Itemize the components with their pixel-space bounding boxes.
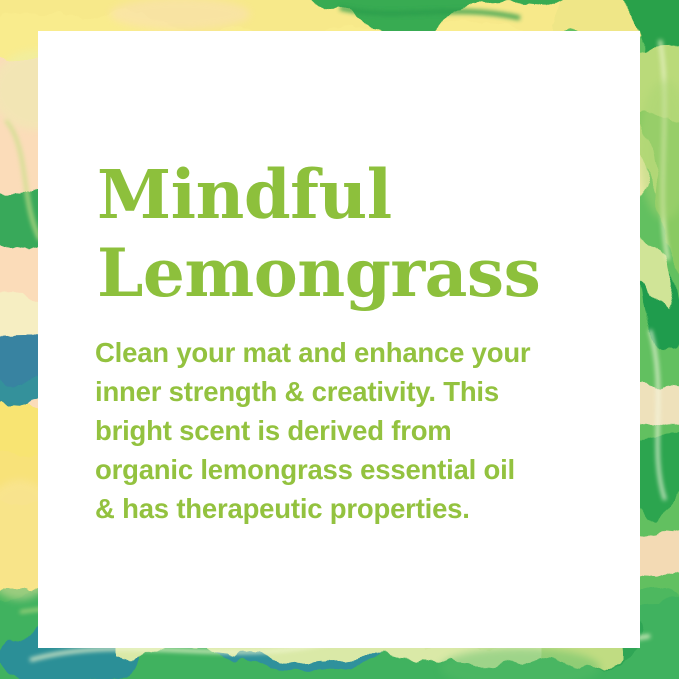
description-line-2: inner strength & creativity. This [95,372,615,411]
white-content-card: Mindful Lemongrass Clean your mat and en… [38,31,640,648]
product-title-line-2: Lemongrass [97,234,617,312]
product-description-image: Mindful Lemongrass Clean your mat and en… [0,0,679,679]
product-title: Mindful Lemongrass [97,156,617,312]
product-description: Clean your mat and enhance your inner st… [95,333,615,528]
product-title-line-1: Mindful [97,156,617,234]
description-line-5: & has therapeutic properties. [95,489,615,528]
description-line-3: bright scent is derived from [95,411,615,450]
description-line-1: Clean your mat and enhance your [95,333,615,372]
description-line-4: organic lemongrass essential oil [95,450,615,489]
